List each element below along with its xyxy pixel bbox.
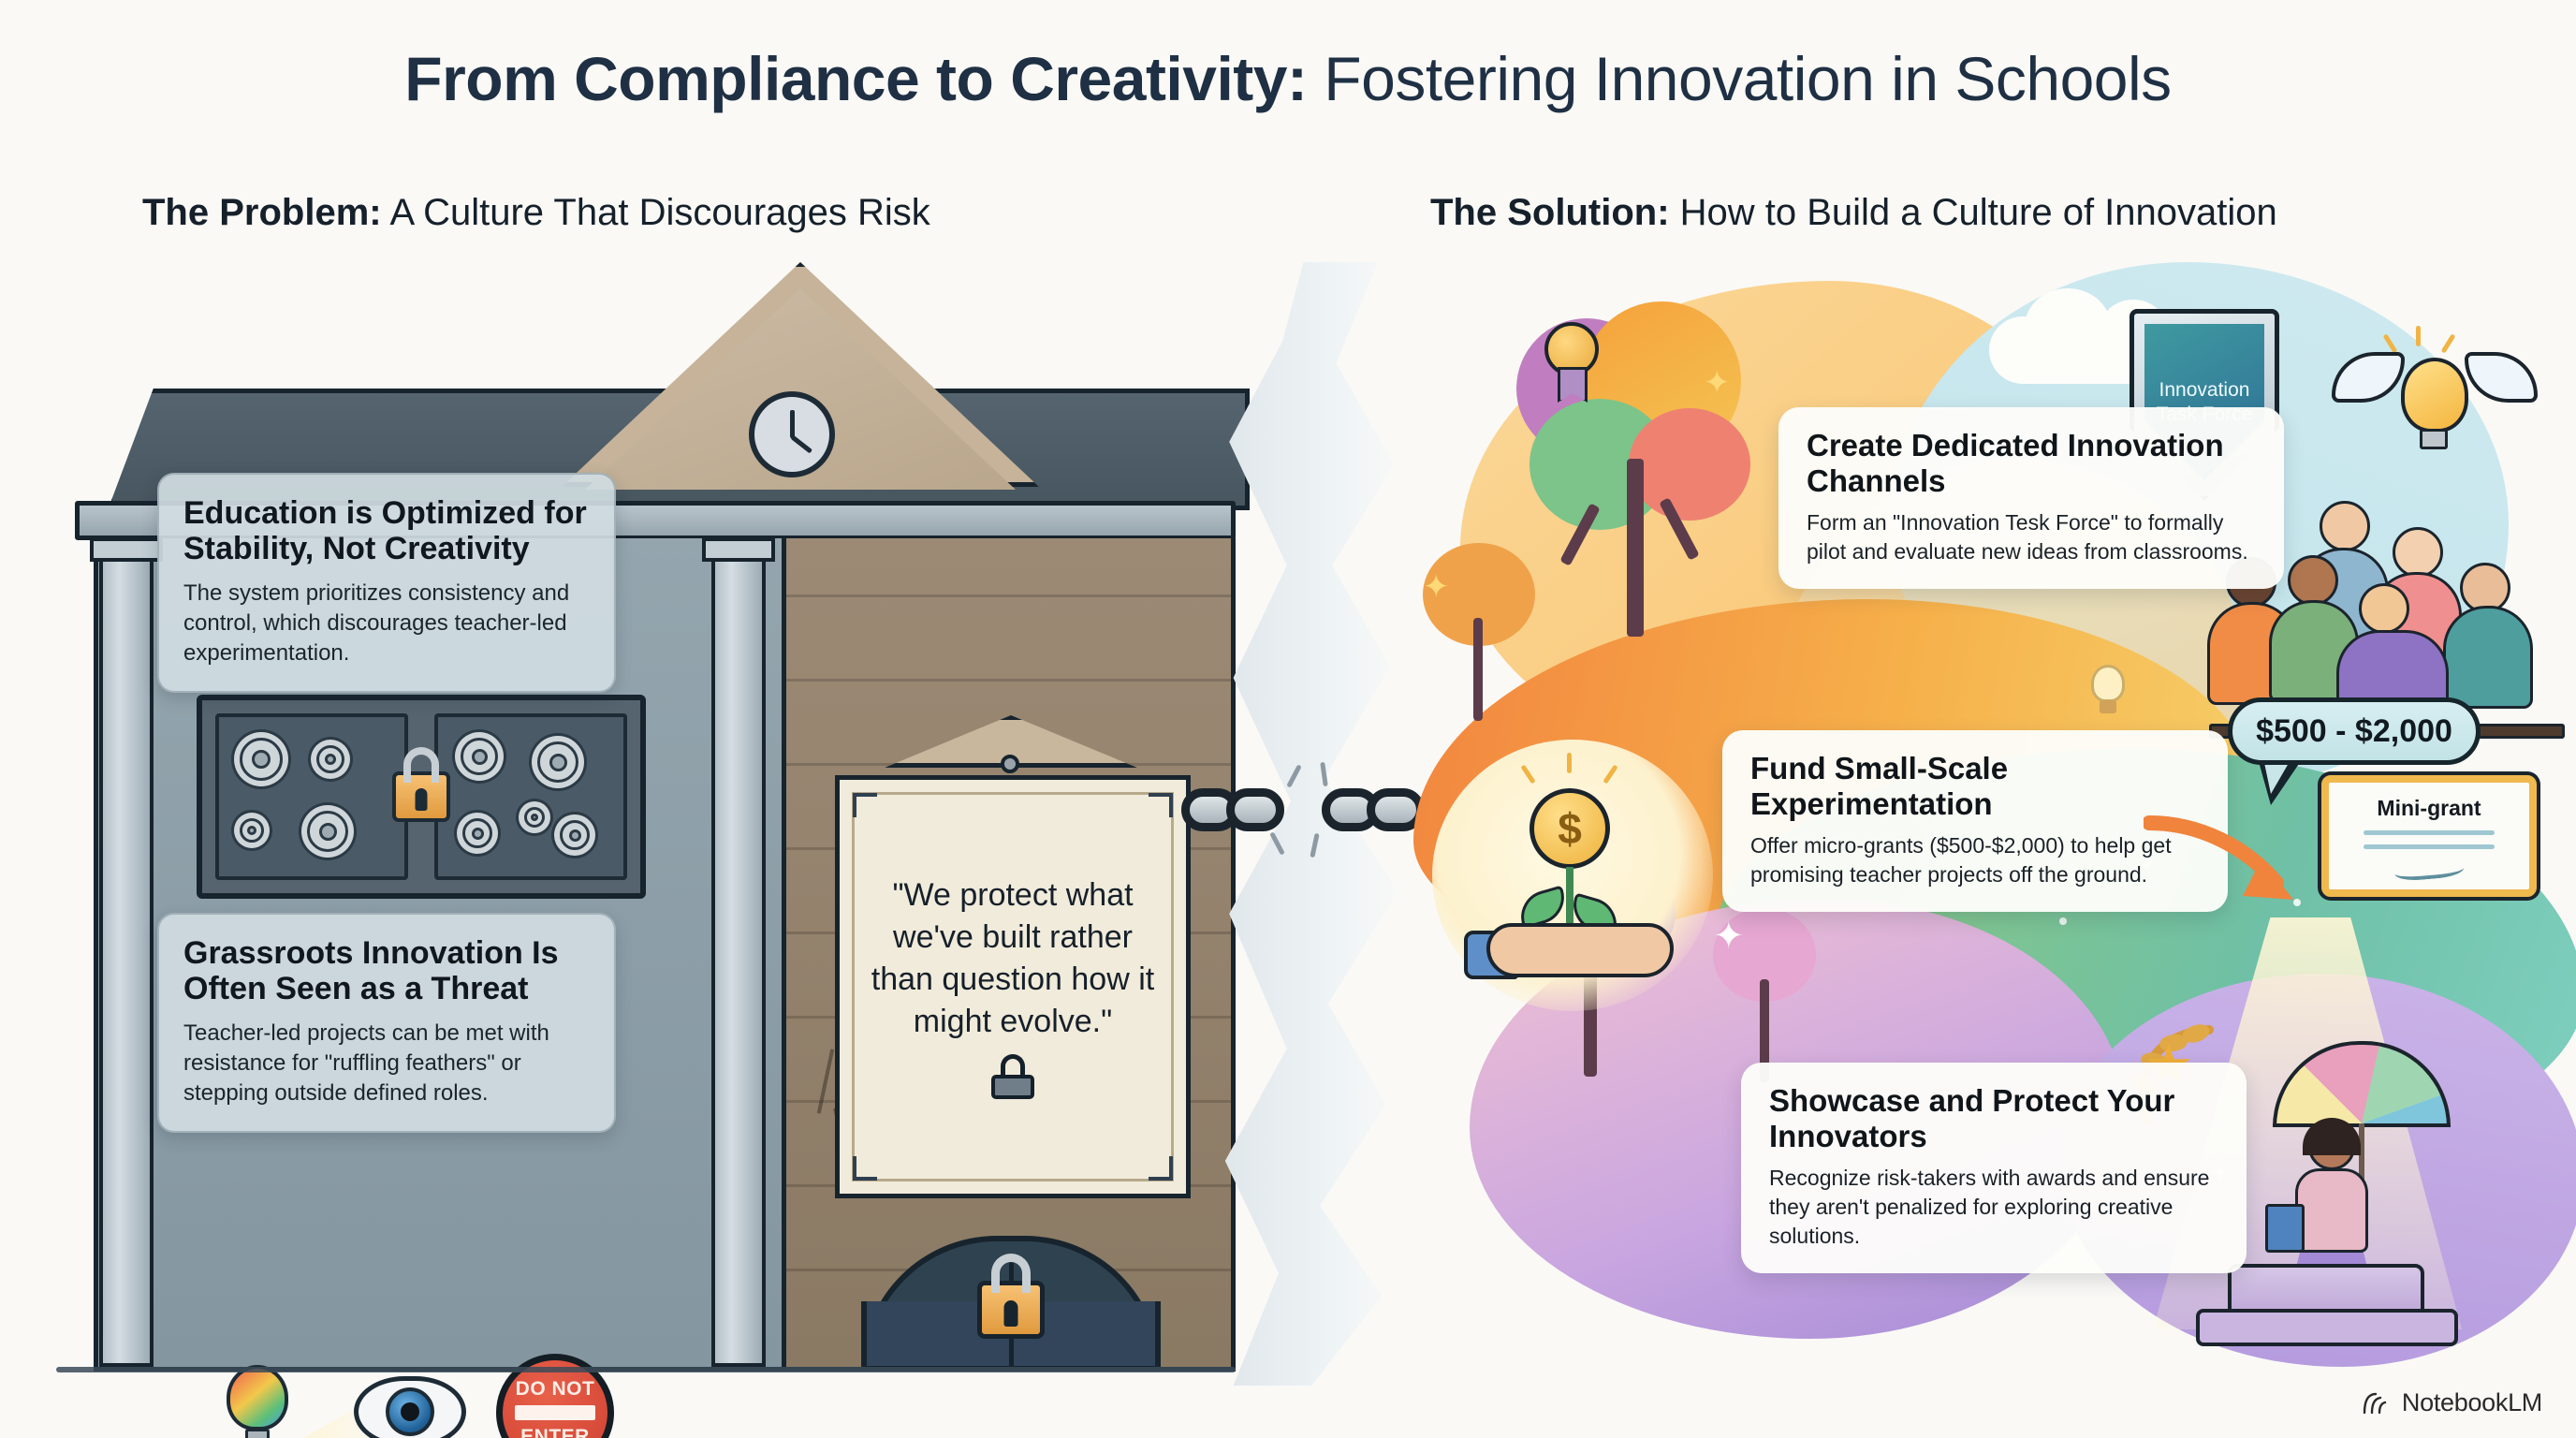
gear-icon [462, 818, 492, 848]
dollar-coin-icon: $ [1529, 788, 1610, 869]
solution-card-1: Create Dedicated Innovation Channels For… [1778, 407, 2284, 589]
gear-icon [524, 807, 545, 828]
eye-iris [386, 1387, 434, 1436]
funding-hand-icon: $ [1432, 740, 1713, 1011]
plaque-quote-text: "We protect what we've built rather than… [862, 874, 1164, 1043]
certificate-label: Mini-grant [2377, 796, 2481, 821]
lightbulb-icon [227, 1365, 288, 1431]
arrow-svg [2144, 810, 2312, 922]
solution-heading: The Solution: How to Build a Culture of … [1430, 192, 2277, 234]
umbrella-dome [2273, 1041, 2451, 1127]
solution-card-1-body: Form an "Innovation Tesk Force" to forma… [1807, 508, 2258, 566]
lightbulb-base [245, 1429, 270, 1438]
open-hand [1486, 923, 1674, 977]
gear-icon [240, 738, 283, 781]
ground-line [56, 1367, 1236, 1372]
page-title-bold: From Compliance to Creativity: [404, 44, 1307, 113]
small-lightbulb-icon [2087, 665, 2129, 717]
wing-icon [2465, 352, 2538, 403]
door-padlock-icon [977, 1281, 1045, 1339]
problem-card-2-body: Teacher-led projects can be met with res… [183, 1019, 590, 1108]
solution-card-3: Showcase and Protect Your Innovators Rec… [1741, 1063, 2247, 1273]
plaque-corner [1149, 793, 1173, 817]
problem-card-1: Education is Optimized for Stability, No… [157, 473, 616, 693]
coin-symbol: $ [1558, 803, 1582, 854]
notice-plaque: "We protect what we've built rather than… [835, 775, 1191, 1198]
solution-illustration: ✦ ✦ ✦ ✦ ✦ Innovation Task Force [1404, 262, 2576, 1386]
problem-heading: The Problem: A Culture That Discourages … [142, 192, 930, 234]
wing-icon [2332, 352, 2405, 403]
gear-icon [307, 811, 348, 852]
sparkle-icon: ✦ [1713, 917, 1745, 955]
grant-amount-label: $500 - $2,000 [2256, 713, 2452, 750]
school-column-right [711, 543, 766, 1367]
umbrella-icon [2273, 1041, 2451, 1131]
notebooklm-watermark: NotebookLM [2363, 1388, 2542, 1417]
winged-lightbulb-icon [2326, 318, 2541, 477]
locked-gears-panel [197, 695, 646, 899]
gear-icon [537, 741, 578, 783]
eye-pupil [401, 1402, 419, 1421]
sparkle-icon: ✦ [1423, 571, 1450, 603]
gears-right-half [434, 713, 627, 880]
gear-icon [316, 745, 344, 773]
page-title-rest: Fostering Innovation in Schools [1307, 44, 2171, 113]
gear-icon [461, 738, 498, 775]
problem-card-1-title: Education is Optimized for Stability, No… [183, 495, 590, 567]
certificate-signature [2393, 856, 2465, 882]
bulb-base [2420, 429, 2448, 449]
infographic-canvas: From Compliance to Creativity: Fostering… [0, 0, 2576, 1438]
problem-heading-rest: A Culture That Discourages Risk [382, 192, 930, 233]
notebooklm-logo-icon [2363, 1391, 2391, 1416]
certificate-line [2364, 830, 2495, 835]
plaque-corner [853, 1156, 877, 1181]
problem-heading-bold: The Problem: [142, 192, 382, 233]
gear-icon [560, 820, 590, 850]
gear-icon [240, 818, 264, 843]
mini-grant-certificate: Mini-grant [2321, 775, 2537, 897]
clock-icon [749, 391, 835, 477]
award-podium-base [2196, 1309, 2458, 1346]
certificate-line [2364, 844, 2495, 849]
plaque-corner [1149, 1156, 1173, 1181]
page-title: From Compliance to Creativity: Fostering… [0, 43, 2576, 114]
solution-card-2-body: Offer micro-grants ($500-$2,000) to help… [1750, 831, 2202, 889]
problem-card-1-body: The system prioritizes consistency and c… [183, 579, 590, 668]
gears-left-half [215, 713, 408, 880]
notice-plaque-group: "We protect what we've built rather than… [786, 721, 1236, 1245]
plaque-nail [1001, 755, 1019, 773]
problem-card-2-title: Grassroots Innovation Is Often Seen as a… [183, 935, 590, 1007]
school-column-left [99, 543, 154, 1367]
do-not-enter-line-1: DO NOT [516, 1379, 595, 1399]
chain-link [1226, 788, 1284, 831]
watermark-label: NotebookLM [2402, 1388, 2542, 1417]
plaque-corner [853, 793, 877, 817]
solution-heading-bold: The Solution: [1430, 192, 1670, 233]
watching-eye-icon [354, 1376, 466, 1438]
teacher-body [2295, 1168, 2368, 1253]
solution-card-3-title: Showcase and Protect Your Innovators [1769, 1083, 2220, 1153]
column-capital-right [702, 537, 775, 562]
small-lock-icon [991, 1062, 1034, 1099]
tag-bubble-tail [2258, 758, 2303, 805]
problem-illustration: Education is Optimized for Stability, No… [37, 271, 1254, 1376]
grant-amount-tag: $500 - $2,000 [2228, 697, 2481, 765]
do-not-enter-line-2: ENTER [520, 1427, 590, 1438]
funding-arrow-icon [2144, 810, 2312, 922]
problem-card-2: Grassroots Innovation Is Often Seen as a… [157, 913, 616, 1133]
do-not-enter-bar [515, 1405, 595, 1420]
solution-heading-rest: How to Build a Culture of Innovation [1670, 192, 2277, 233]
bulb-glass [2401, 358, 2468, 433]
solution-card-1-title: Create Dedicated Innovation Channels [1807, 428, 2258, 498]
solution-card-3-body: Recognize risk-takers with awards and en… [1769, 1164, 2220, 1250]
padlock-icon [392, 771, 450, 822]
column-capital-left [90, 537, 163, 562]
solution-card-2-title: Fund Small-Scale Experimentation [1750, 751, 2202, 821]
sparkle-icon: ✦ [1704, 367, 1731, 399]
book-icon [2265, 1204, 2305, 1253]
problem-icon-row: DO NOT ENTER [197, 1348, 665, 1438]
